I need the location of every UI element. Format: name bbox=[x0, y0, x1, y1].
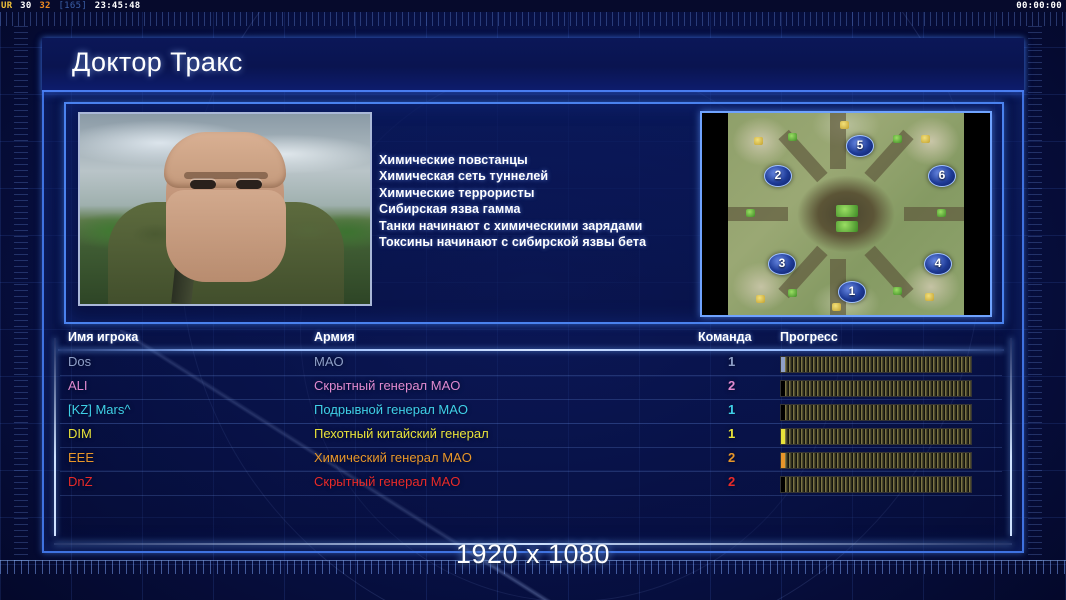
player-army: MAO bbox=[314, 354, 344, 369]
portrait-headwrap bbox=[164, 132, 286, 188]
map-resource bbox=[756, 295, 765, 303]
progress-bar-fill bbox=[781, 477, 971, 492]
map-start-position[interactable]: 3 bbox=[768, 253, 796, 275]
map-start-position[interactable]: 6 bbox=[928, 165, 956, 187]
info-panel: Химические повстанцы Химическая сеть тун… bbox=[64, 102, 1004, 324]
status-value-2: 32 bbox=[38, 1, 51, 11]
portrait-eye-left bbox=[190, 180, 216, 189]
progress-bar-cap bbox=[781, 429, 785, 444]
status-label: UR bbox=[0, 1, 13, 11]
table-header-row: Имя игрока Армия Команда Прогресс bbox=[64, 328, 1000, 350]
player-army: Химический генерал MAO bbox=[314, 450, 472, 465]
player-team: 2 bbox=[728, 474, 735, 489]
progress-bar-fill bbox=[781, 405, 971, 420]
ruler-top bbox=[0, 12, 1066, 26]
player-team: 2 bbox=[728, 450, 735, 465]
map-resource bbox=[832, 303, 841, 311]
progress-bar-cap bbox=[781, 405, 785, 420]
player-team: 1 bbox=[728, 354, 735, 369]
ruler-right bbox=[1028, 26, 1042, 566]
player-name: [KZ] Mars^ bbox=[68, 402, 130, 417]
status-bracket: [165] bbox=[57, 1, 88, 11]
portrait-eye-right bbox=[236, 180, 262, 189]
map-road bbox=[864, 246, 913, 298]
progress-bar-fill bbox=[781, 381, 971, 396]
progress-bar-cap bbox=[781, 381, 785, 396]
main-window: Доктор Тракс Химические повстанцы Хим bbox=[42, 38, 1024, 553]
progress-bar-cap bbox=[781, 477, 785, 492]
map-resource bbox=[921, 135, 930, 143]
progress-bar bbox=[780, 356, 972, 373]
description-line: Танки начинают с химическими зарядами bbox=[379, 218, 709, 234]
map-start-position[interactable]: 5 bbox=[846, 135, 874, 157]
map-resource bbox=[754, 137, 763, 145]
map-resource bbox=[937, 209, 946, 217]
player-team: 1 bbox=[728, 402, 735, 417]
description-line: Химические повстанцы bbox=[379, 152, 709, 168]
player-army: Подрывной генерал MAO bbox=[314, 402, 468, 417]
map-resource bbox=[836, 205, 858, 217]
player-army: Скрытный генерал MAO bbox=[314, 474, 460, 489]
progress-bar-cap bbox=[781, 453, 785, 468]
game-lobby-screen: UR 30 32 [165] 23:45:48 00:00:00 Доктор … bbox=[0, 0, 1066, 600]
map-letterbox-left bbox=[702, 113, 728, 315]
column-header-team: Команда bbox=[698, 330, 752, 344]
table-row[interactable]: [KZ] Mars^Подрывной генерал MAO1 bbox=[64, 400, 1000, 424]
map-resource bbox=[893, 135, 902, 143]
description-line: Токсины начинают с сибирской язвы бета bbox=[379, 234, 709, 250]
progress-bar bbox=[780, 428, 972, 445]
status-value-1: 30 bbox=[19, 1, 32, 11]
map-resource bbox=[893, 287, 902, 295]
player-army: Пехотный китайский генерал bbox=[314, 426, 489, 441]
player-team: 2 bbox=[728, 378, 735, 393]
progress-bar-fill bbox=[781, 357, 971, 372]
player-table: Имя игрока Армия Команда Прогресс DosMAO… bbox=[64, 328, 1000, 530]
player-name: DnZ bbox=[68, 474, 93, 489]
table-frame-right bbox=[1010, 338, 1012, 536]
progress-bar bbox=[780, 404, 972, 421]
map-resource bbox=[788, 133, 797, 141]
map-start-position[interactable]: 4 bbox=[924, 253, 952, 275]
column-header-progress: Прогресс bbox=[780, 330, 838, 344]
table-header-divider bbox=[58, 349, 1004, 351]
map-start-position[interactable]: 1 bbox=[838, 281, 866, 303]
progress-bar bbox=[780, 476, 972, 493]
progress-bar bbox=[780, 380, 972, 397]
table-row[interactable]: DosMAO1 bbox=[64, 352, 1000, 376]
player-name: ALI bbox=[68, 378, 88, 393]
table-row[interactable]: DIMПехотный китайский генерал1 bbox=[64, 424, 1000, 448]
description-line: Химическая сеть туннелей bbox=[379, 168, 709, 184]
player-army: Скрытный генерал MAO bbox=[314, 378, 460, 393]
ruler-left bbox=[14, 26, 28, 566]
window-titlebar: Доктор Тракс bbox=[42, 38, 1024, 92]
map-road bbox=[728, 207, 788, 221]
map-resource bbox=[836, 221, 858, 232]
column-header-name: Имя игрока bbox=[68, 330, 138, 344]
progress-bar-fill bbox=[781, 429, 971, 444]
resolution-overlay: 1920 x 1080 bbox=[0, 539, 1066, 570]
map-resource bbox=[788, 289, 797, 297]
table-row[interactable]: DnZСкрытный генерал MAO2 bbox=[64, 472, 1000, 496]
map-image: 5 2 6 3 4 1 bbox=[728, 113, 964, 315]
player-team: 1 bbox=[728, 426, 735, 441]
table-row[interactable]: EEEХимический генерал MAO2 bbox=[64, 448, 1000, 472]
map-road bbox=[904, 207, 964, 221]
status-bar: UR 30 32 [165] 23:45:48 00:00:00 bbox=[0, 0, 1066, 12]
map-letterbox-right bbox=[964, 113, 990, 315]
description-line: Химические террористы bbox=[379, 185, 709, 201]
table-frame-left bbox=[54, 338, 56, 536]
portrait-brow bbox=[184, 172, 268, 179]
map-start-position[interactable]: 2 bbox=[764, 165, 792, 187]
table-body: DosMAO1ALIСкрытный генерал MAO2[KZ] Mars… bbox=[64, 352, 1000, 496]
general-portrait bbox=[78, 112, 372, 306]
status-clock: 23:45:48 bbox=[94, 1, 142, 11]
status-right-clock: 00:00:00 bbox=[1016, 0, 1062, 12]
player-name: Dos bbox=[68, 354, 91, 369]
row-divider bbox=[60, 495, 1002, 496]
portrait-face-mask bbox=[166, 190, 286, 282]
table-row[interactable]: ALIСкрытный генерал MAO2 bbox=[64, 376, 1000, 400]
map-resource bbox=[925, 293, 934, 301]
column-header-army: Армия bbox=[314, 330, 355, 344]
progress-bar-cap bbox=[781, 357, 785, 372]
map-preview[interactable]: 5 2 6 3 4 1 bbox=[700, 111, 992, 317]
description-line: Сибирская язва гамма bbox=[379, 201, 709, 217]
page-title: Доктор Тракс bbox=[72, 47, 243, 78]
player-name: EEE bbox=[68, 450, 94, 465]
map-road bbox=[864, 130, 913, 182]
map-resource bbox=[746, 209, 755, 217]
progress-bar-fill bbox=[781, 453, 971, 468]
army-description-list: Химические повстанцы Химическая сеть тун… bbox=[379, 152, 709, 250]
player-name: DIM bbox=[68, 426, 92, 441]
progress-bar bbox=[780, 452, 972, 469]
map-resource bbox=[840, 121, 849, 129]
